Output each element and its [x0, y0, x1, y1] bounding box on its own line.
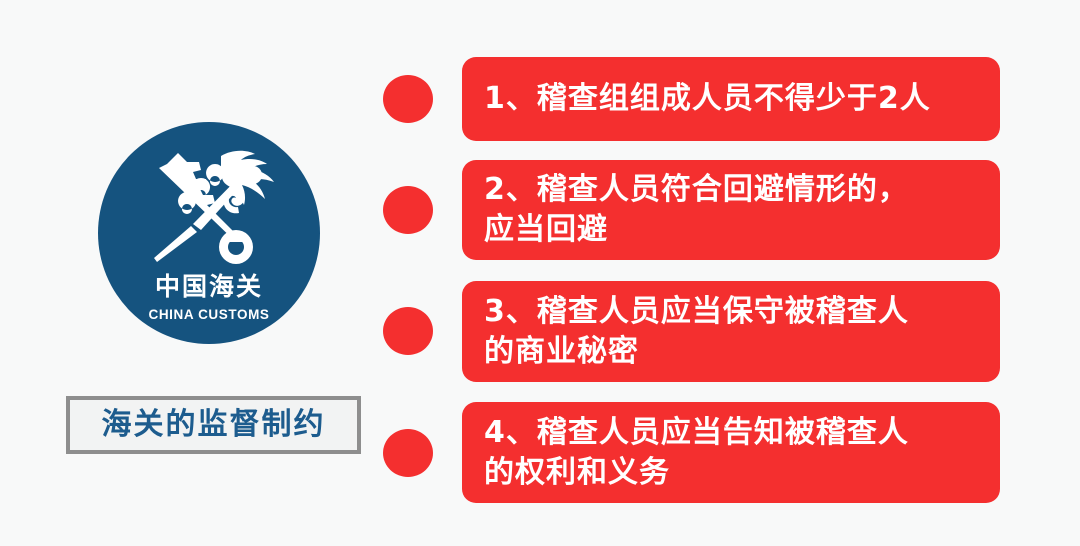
rule-text: 1、稽查组组成人员不得少于2人 [484, 79, 931, 119]
slide-canvas: 中国海关 CHINA CUSTOMS 海关的监督制约 1、稽查组组成人员不得少于… [0, 0, 1080, 546]
rule-text: 2、稽查人员符合回避情形的， 应当回避 [484, 170, 909, 249]
list-item[interactable]: 2、稽查人员符合回避情形的， 应当回避 [380, 160, 1080, 260]
rule-text: 4、稽查人员应当告知被稽查人 的权利和义务 [484, 413, 909, 492]
caption-label: 海关的监督制约 [102, 410, 326, 440]
logo-circle: 中国海关 CHINA CUSTOMS [98, 122, 320, 344]
bullet-dot-icon [383, 307, 433, 355]
bullet-dot-icon [383, 429, 433, 477]
rule-pill[interactable]: 2、稽查人员符合回避情形的， 应当回避 [462, 160, 1000, 260]
logo-english-name: CHINA CUSTOMS [98, 308, 320, 322]
logo-chinese-name: 中国海关 [98, 274, 320, 299]
rule-text: 3、稽查人员应当保守被稽查人 的商业秘密 [484, 292, 909, 371]
brand-column: 中国海关 CHINA CUSTOMS 海关的监督制约 [0, 0, 380, 546]
caption-box: 海关的监督制约 [66, 396, 361, 454]
rule-pill[interactable]: 4、稽查人员应当告知被稽查人 的权利和义务 [462, 402, 1000, 503]
china-customs-logo: 中国海关 CHINA CUSTOMS [98, 122, 320, 344]
bullet-dot-icon [383, 186, 433, 234]
list-item[interactable]: 3、稽查人员应当保守被稽查人 的商业秘密 [380, 281, 1080, 382]
list-item[interactable]: 1、稽查组组成人员不得少于2人 [380, 57, 1080, 141]
rule-pill[interactable]: 3、稽查人员应当保守被稽查人 的商业秘密 [462, 281, 1000, 382]
bullet-dot-icon [383, 75, 433, 123]
rule-pill[interactable]: 1、稽查组组成人员不得少于2人 [462, 57, 1000, 141]
rules-list: 1、稽查组组成人员不得少于2人 2、稽查人员符合回避情形的， 应当回避 3、稽查… [380, 0, 1080, 546]
list-item[interactable]: 4、稽查人员应当告知被稽查人 的权利和义务 [380, 402, 1080, 503]
customs-key-caduceus-icon [143, 148, 275, 266]
